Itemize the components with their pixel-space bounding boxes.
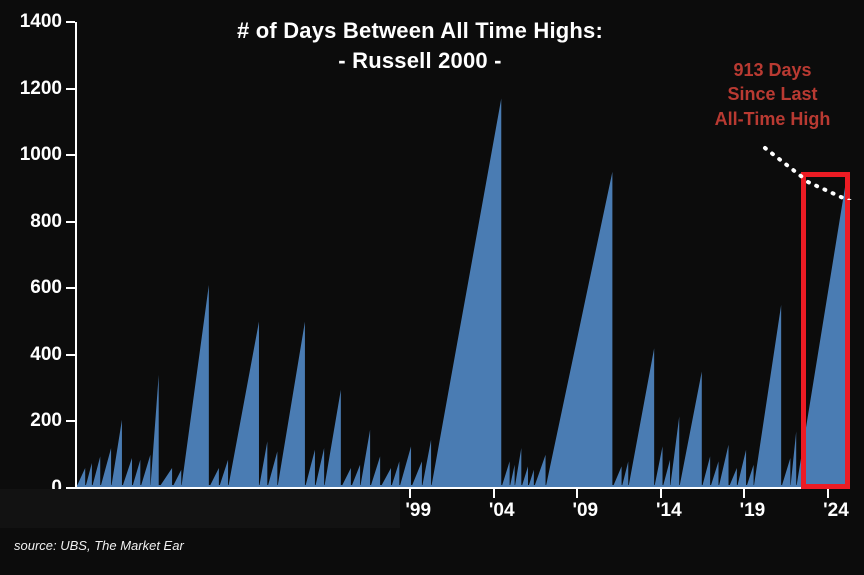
bottom-band (0, 489, 400, 529)
y-axis-tick (66, 88, 75, 90)
highlight-box (801, 172, 850, 489)
x-axis-tick (576, 489, 578, 498)
x-axis-label: '09 (572, 500, 598, 522)
y-axis-label: 200 (0, 411, 62, 430)
x-axis-label: '14 (656, 500, 682, 522)
y-axis-label: 600 (0, 278, 62, 297)
y-axis-tick (66, 420, 75, 422)
x-axis-label: '99 (405, 500, 431, 522)
x-axis-label: '24 (823, 500, 849, 522)
annotation-line1: 913 Days (690, 58, 855, 82)
y-axis-label: 1000 (0, 145, 62, 164)
annotation-line3: All-Time High (690, 107, 855, 131)
y-axis-line (75, 22, 77, 489)
y-axis-tick (66, 354, 75, 356)
callout-dotted-line (760, 140, 860, 200)
y-axis-tick (66, 21, 75, 23)
x-axis-tick (409, 489, 411, 498)
y-axis-label: 1200 (0, 79, 62, 98)
y-axis-label: 800 (0, 212, 62, 231)
x-axis-tick (743, 489, 745, 498)
sawtooth-area (76, 99, 848, 488)
callout-annotation: 913 Days Since Last All-Time High (690, 58, 855, 131)
y-axis-tick (66, 221, 75, 223)
annotation-line2: Since Last (690, 82, 855, 106)
y-axis-tick (66, 154, 75, 156)
y-axis-label: 1400 (0, 12, 62, 31)
y-axis-label: 400 (0, 345, 62, 364)
source-caption: source: UBS, The Market Ear (14, 538, 184, 553)
chart-root: # of Days Between All Time Highs: - Russ… (0, 0, 864, 575)
x-axis-label: '04 (489, 500, 515, 522)
x-axis-tick (827, 489, 829, 498)
x-axis-tick (660, 489, 662, 498)
x-axis-tick (493, 489, 495, 498)
x-axis-label: '19 (740, 500, 766, 522)
y-axis-tick (66, 287, 75, 289)
